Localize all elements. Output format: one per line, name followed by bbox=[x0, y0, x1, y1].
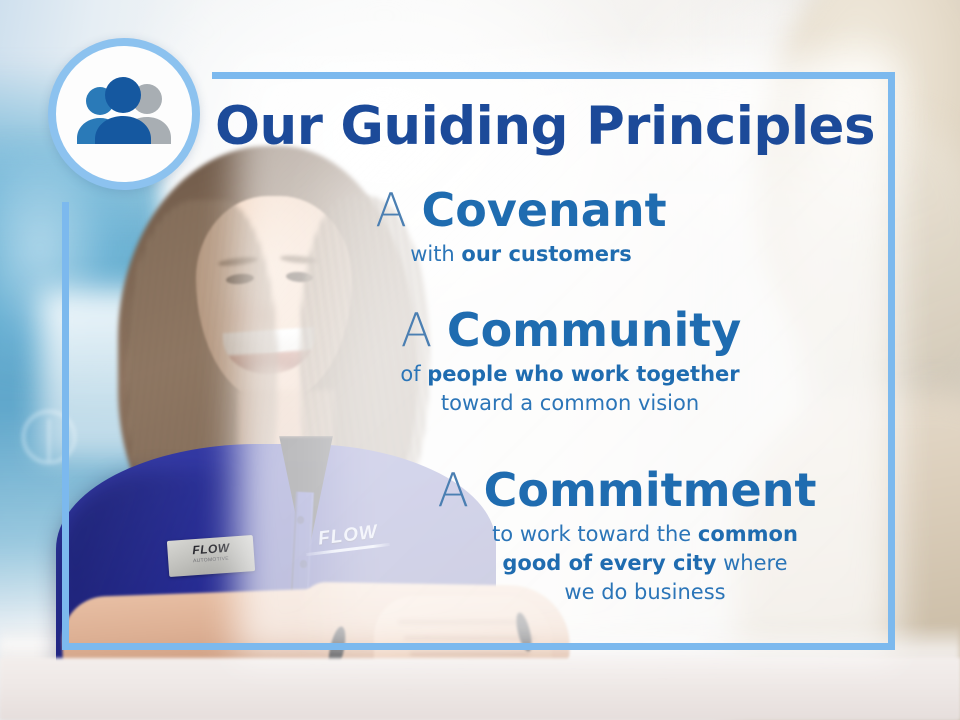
principle-2-sub-0-0: of bbox=[400, 362, 427, 386]
principle-2-word: Community bbox=[447, 303, 741, 357]
text-content: Our Guiding Principles A Covenant with o… bbox=[200, 78, 900, 648]
guiding-principles-graphic: FLOW AUTOMOTIVE FLOW bbox=[0, 0, 960, 720]
people-group-badge bbox=[48, 38, 200, 190]
principle-3-heading: A Commitment bbox=[200, 466, 900, 516]
principle-2-subtext: of people who work together toward a com… bbox=[200, 360, 900, 418]
principle-3-sub-0-0: to work toward the bbox=[492, 522, 698, 546]
principle-1-sub-0-0: with bbox=[410, 242, 461, 266]
principle-1-article: A bbox=[375, 183, 406, 237]
principle-3-article: A bbox=[438, 463, 469, 517]
page-title: Our Guiding Principles bbox=[200, 100, 890, 153]
principle-3-sub-1-0: good of every city bbox=[502, 551, 716, 575]
principle-3-sub-line-1: to work toward the common bbox=[390, 520, 900, 549]
finger-line-3 bbox=[410, 652, 530, 656]
principle-2-sub-0-1: people who work together bbox=[427, 362, 739, 386]
principle-3-subtext: to work toward the common good of every … bbox=[200, 520, 900, 607]
principle-community: A Community of people who work together … bbox=[200, 306, 900, 418]
principle-2-sub-line-2: toward a common vision bbox=[240, 389, 900, 418]
principle-commitment: A Commitment to work toward the common g… bbox=[200, 466, 900, 607]
principle-1-sub-0-1: our customers bbox=[461, 242, 631, 266]
principle-1-subtext: with our customers bbox=[200, 240, 900, 269]
principle-covenant: A Covenant with our customers bbox=[200, 186, 900, 269]
principle-3-sub-line-2: good of every city where bbox=[390, 549, 900, 578]
principle-2-sub-line-1: of people who work together bbox=[240, 360, 900, 389]
principle-1-word: Covenant bbox=[422, 183, 667, 237]
principle-3-sub-1-1: where bbox=[716, 551, 787, 575]
principle-1-heading: A Covenant bbox=[200, 186, 900, 236]
principle-3-word: Commitment bbox=[484, 463, 817, 517]
people-group-icon bbox=[72, 77, 176, 151]
principle-3-sub-line-3: we do business bbox=[390, 578, 900, 607]
principle-3-sub-0-1: common bbox=[698, 522, 798, 546]
principle-2-article: A bbox=[401, 303, 432, 357]
desk-front-surface bbox=[0, 658, 960, 720]
principle-2-heading: A Community bbox=[200, 306, 900, 356]
